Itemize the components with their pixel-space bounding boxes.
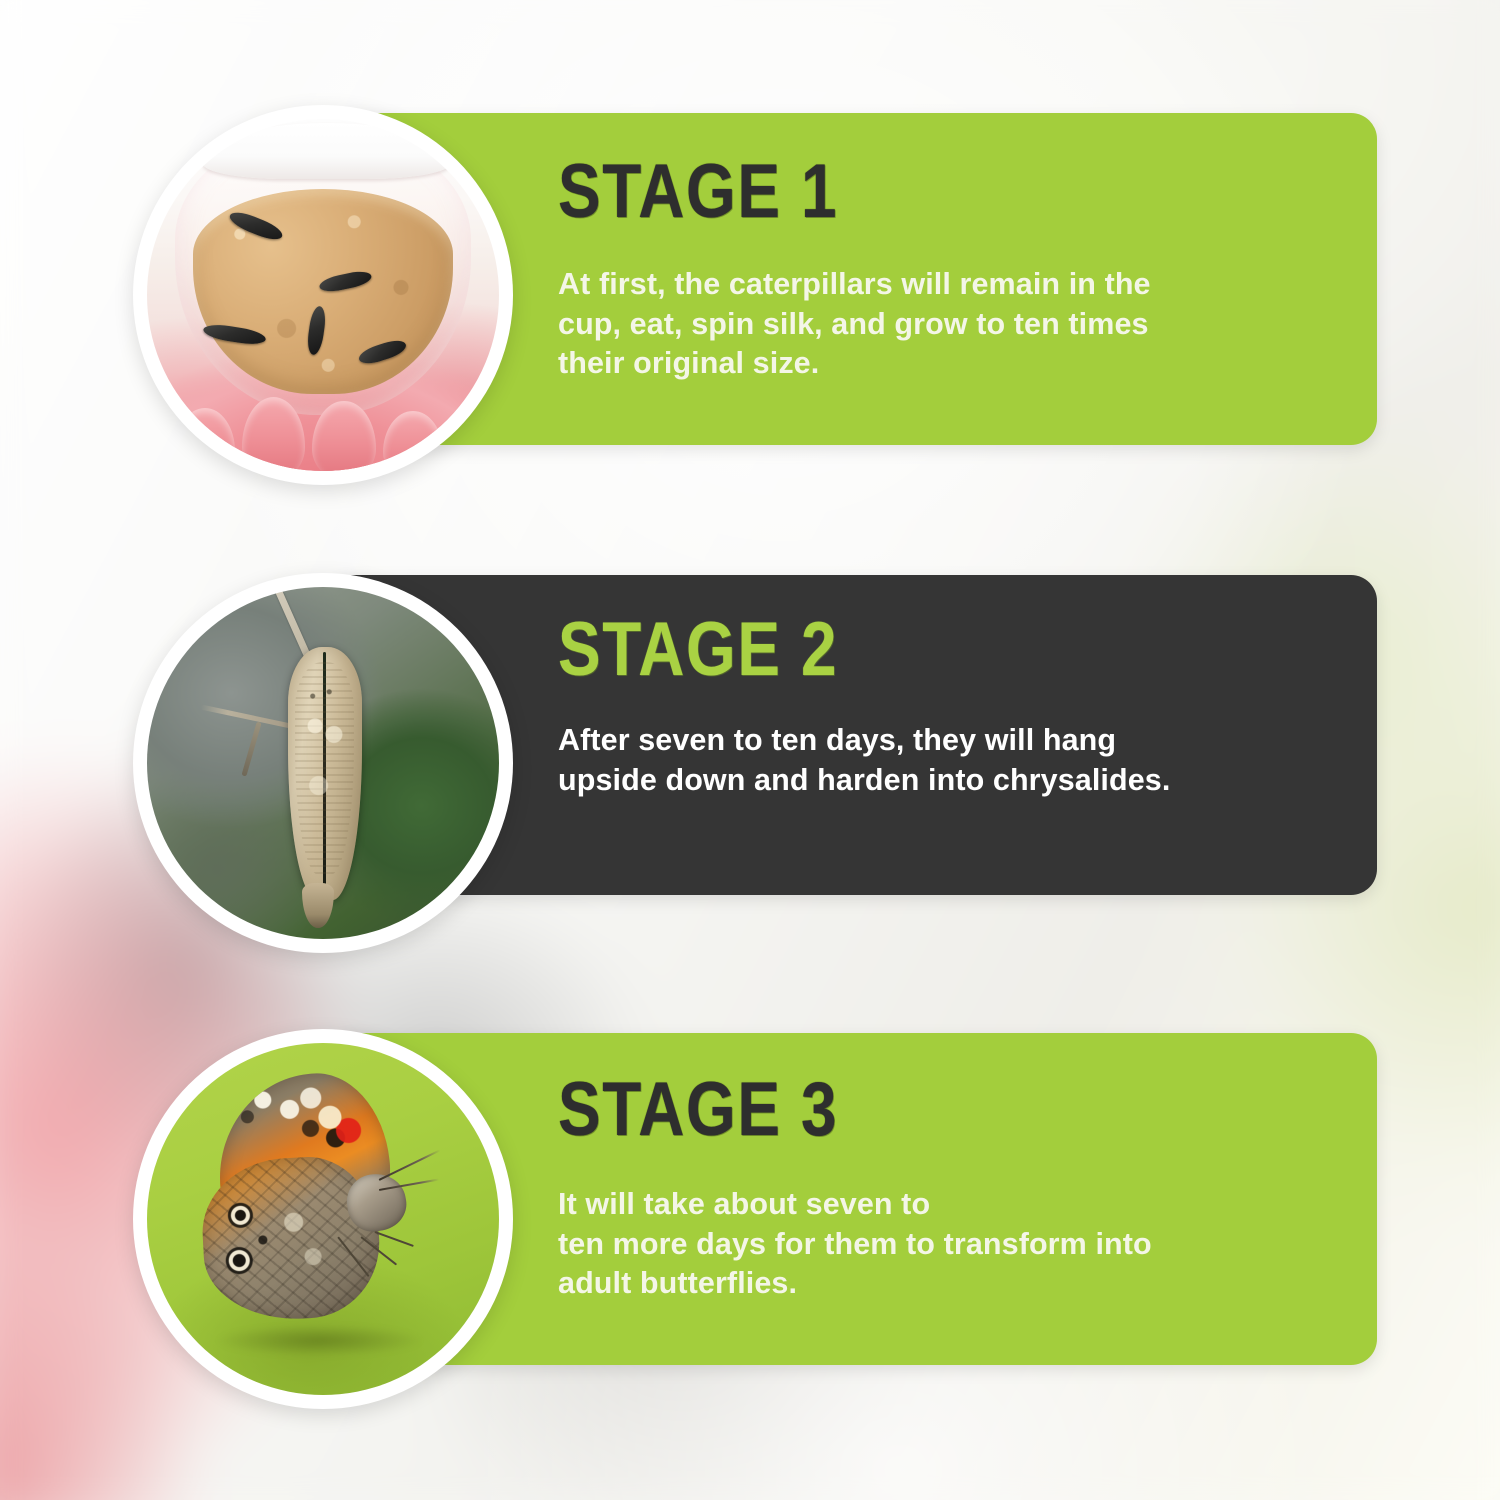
chrysalis-photo-scene [147, 587, 499, 939]
stage-row-3: STAGE 3 It will take about seven to ten … [0, 1023, 1500, 1365]
caterpillars-in-cup-photo [147, 119, 499, 471]
stage-row-1: STAGE 1 At first, the caterpillars will … [0, 105, 1500, 457]
stage-3-description: It will take about seven to ten more day… [558, 1185, 1286, 1304]
stage-1-title: STAGE 1 [558, 157, 1196, 227]
cup-photo-scene [147, 119, 499, 471]
stage-3-title: STAGE 3 [558, 1075, 1196, 1145]
stage-1-description: At first, the caterpillars will remain i… [558, 265, 1286, 384]
stage-1-photo-ring [133, 105, 513, 485]
butterfly-lifecycle-infographic: STAGE 1 At first, the caterpillars will … [0, 0, 1500, 1500]
hand-finger [175, 408, 235, 471]
stage-1-text-block: STAGE 1 At first, the caterpillars will … [558, 157, 1318, 384]
stage-2-text-block: STAGE 2 After seven to ten days, they wi… [558, 615, 1318, 800]
hand-finger [383, 411, 443, 471]
chrysalis-tip-shape [302, 883, 334, 929]
stage-3-text-block: STAGE 3 It will take about seven to ten … [558, 1075, 1318, 1304]
stage-3-photo-ring [133, 1029, 513, 1409]
twig-hook-shape [241, 721, 261, 777]
twig-branch-shape [200, 704, 291, 728]
stage-row-2: STAGE 2 After seven to ten days, they wi… [0, 565, 1500, 905]
stage-2-photo-ring [133, 573, 513, 953]
stage-2-title: STAGE 2 [558, 615, 1196, 685]
chrysalis-on-twig-photo [147, 587, 499, 939]
butterfly-figure [203, 1075, 428, 1335]
stage-2-description: After seven to ten days, they will hang … [558, 721, 1302, 800]
butterfly-photo-scene [147, 1043, 499, 1395]
adult-butterfly-photo [147, 1043, 499, 1395]
cup-lid-shape [203, 123, 449, 179]
chrysalis-shape [288, 647, 362, 900]
butterfly-leg [374, 1231, 413, 1247]
